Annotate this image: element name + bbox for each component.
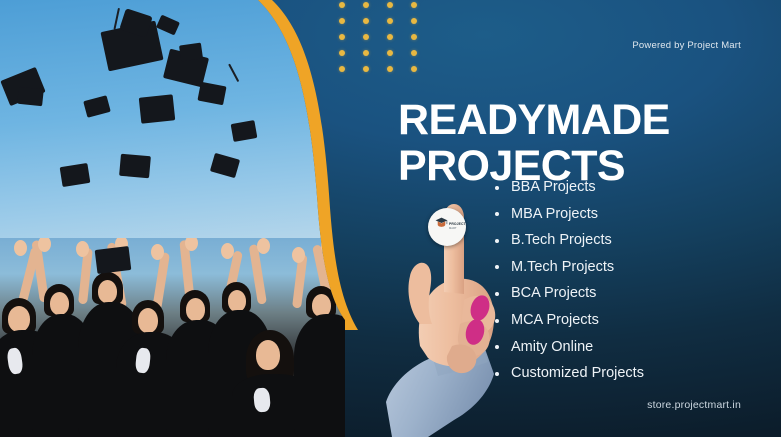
promo-banner: PROJECT MART Powered by Project Mart REA… [0,0,781,437]
grid-dot [387,2,393,8]
grid-dot [411,50,417,56]
graduate-face [50,292,69,315]
graduate-face [256,340,280,370]
grid-dot [339,66,345,72]
grad-cap-icon [83,95,111,118]
grad-cap-icon [231,120,258,142]
grid-dot [339,18,345,24]
list-item[interactable]: BBA Projects [495,174,644,201]
grad-cap-icon [156,15,180,36]
hand [292,247,305,263]
list-item[interactable]: MBA Projects [495,201,644,228]
grad-cap-icon [228,64,239,83]
grid-dot [363,66,369,72]
grid-dot [411,2,417,8]
grad-cap-icon [197,82,226,106]
grad-cap-icon [60,163,91,187]
grid-dot [387,50,393,56]
grid-dot [387,18,393,24]
list-item[interactable]: BCA Projects [495,280,644,307]
hand [76,241,89,257]
list-item[interactable]: M.Tech Projects [495,254,644,281]
hand [38,238,51,252]
list-item[interactable]: Amity Online [495,334,644,361]
grid-dot [387,34,393,40]
grad-cap-icon [139,94,176,123]
list-item[interactable]: B.Tech Projects [495,227,644,254]
graduate-face [98,280,117,303]
list-item[interactable]: Customized Projects [495,360,644,387]
grad-cap-icon [119,154,151,179]
grid-dot [411,18,417,24]
grid-dot [387,66,393,72]
badge-name: PROJECT [449,222,466,226]
hand [257,238,270,254]
grid-dot [411,66,417,72]
grad-cap-icon [17,87,44,107]
grad-cap-icon [179,43,203,62]
grid-dot [339,50,345,56]
hand [151,244,164,260]
hand [221,243,234,259]
project-category-list: BBA Projects MBA Projects B.Tech Project… [495,174,644,387]
store-url-label[interactable]: store.projectmart.in [647,399,741,411]
graduation-cap-icon [435,216,448,229]
hand [185,238,198,251]
hand [14,240,27,256]
dot-grid-decoration [330,0,426,77]
badge-tagline: MART [449,227,457,230]
grid-dot [363,34,369,40]
graduate-face [138,308,158,333]
grid-dot [339,2,345,8]
grid-dot [339,34,345,40]
project-mart-logo-badge: PROJECT MART [428,208,466,246]
grid-dot [363,18,369,24]
graduate-face [8,306,30,332]
list-item[interactable]: MCA Projects [495,307,644,334]
graduate-face [228,290,246,312]
graduate-collar [253,387,271,412]
grad-cap-icon [210,153,240,178]
grad-cap-icon [95,246,132,274]
headline-line-1: READYMADE [398,96,670,144]
graduates-crowd-photo [0,238,360,437]
grid-dot [363,50,369,56]
powered-by-label: Powered by Project Mart [632,40,741,51]
grid-dot [411,34,417,40]
grid-dot [363,2,369,8]
graduate-face [186,298,205,321]
